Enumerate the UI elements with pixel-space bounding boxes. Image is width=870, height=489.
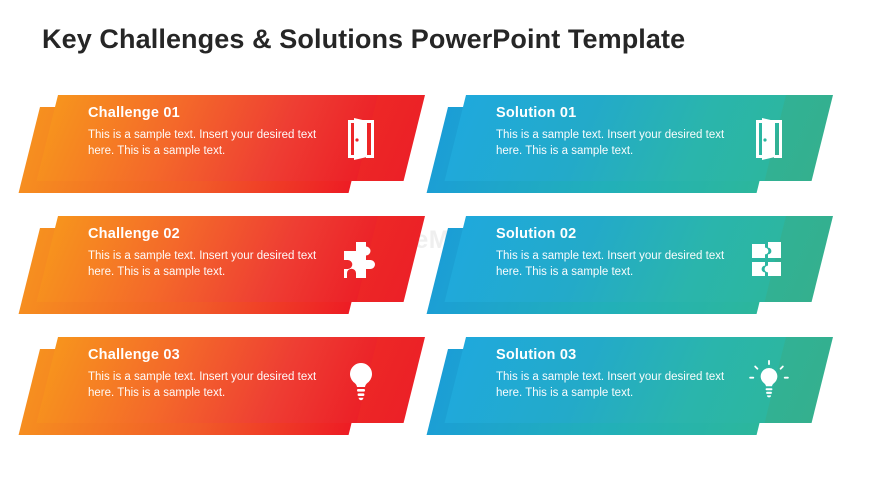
challenge-card-3[interactable]: Challenge 03 This is a sample text. Inse… <box>40 337 410 435</box>
card-heading: Solution 01 <box>496 105 746 121</box>
card-heading: Challenge 02 <box>88 226 338 242</box>
door-icon <box>748 117 790 161</box>
slide-canvas: Key Challenges & Solutions PowerPoint Te… <box>0 0 870 489</box>
solution-card-2[interactable]: Solution 02 This is a sample text. Inser… <box>448 216 818 314</box>
puzzle-piece-icon <box>340 238 382 282</box>
card-content: Challenge 01 This is a sample text. Inse… <box>88 105 338 159</box>
card-heading: Challenge 01 <box>88 105 338 121</box>
card-content: Challenge 02 This is a sample text. Inse… <box>88 226 338 280</box>
page-title: Key Challenges & Solutions PowerPoint Te… <box>42 24 685 55</box>
challenge-card-2[interactable]: Challenge 02 This is a sample text. Inse… <box>40 216 410 314</box>
card-body-text: This is a sample text. Insert your desir… <box>88 248 338 280</box>
puzzle-pieces-icon <box>748 238 790 282</box>
card-heading: Solution 03 <box>496 347 746 363</box>
card-content: Challenge 03 This is a sample text. Inse… <box>88 347 338 401</box>
lightbulb-icon <box>340 359 382 403</box>
card-heading: Solution 02 <box>496 226 746 242</box>
card-content: Solution 02 This is a sample text. Inser… <box>496 226 746 280</box>
card-content: Solution 01 This is a sample text. Inser… <box>496 105 746 159</box>
card-body-text: This is a sample text. Insert your desir… <box>88 127 338 159</box>
solution-card-1[interactable]: Solution 01 This is a sample text. Inser… <box>448 95 818 193</box>
lightbulb-rays-icon <box>748 359 790 403</box>
solution-card-3[interactable]: Solution 03 This is a sample text. Inser… <box>448 337 818 435</box>
card-heading: Challenge 03 <box>88 347 338 363</box>
card-body-text: This is a sample text. Insert your desir… <box>496 369 746 401</box>
card-content: Solution 03 This is a sample text. Inser… <box>496 347 746 401</box>
door-icon <box>340 117 382 161</box>
card-body-text: This is a sample text. Insert your desir… <box>496 248 746 280</box>
card-body-text: This is a sample text. Insert your desir… <box>88 369 338 401</box>
challenge-card-1[interactable]: Challenge 01 This is a sample text. Inse… <box>40 95 410 193</box>
card-body-text: This is a sample text. Insert your desir… <box>496 127 746 159</box>
